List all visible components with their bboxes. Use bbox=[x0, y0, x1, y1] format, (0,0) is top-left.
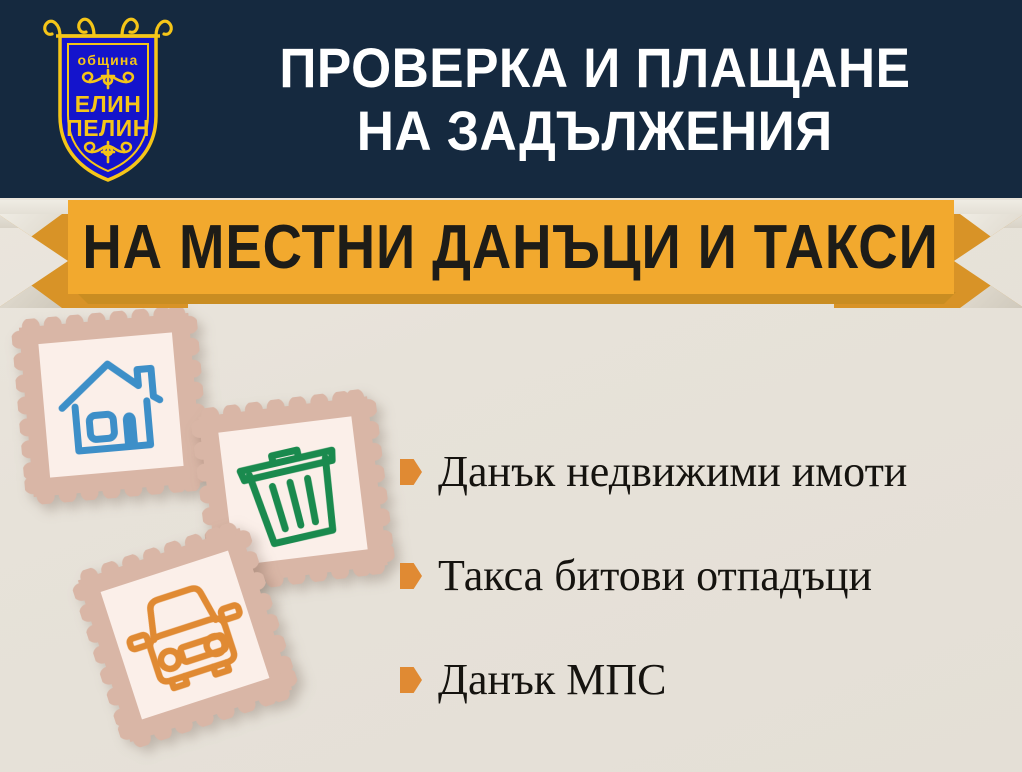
svg-text:ПЕЛИН: ПЕЛИН bbox=[66, 115, 150, 141]
subtitle-ribbon: НА МЕСТНИ ДАНЪЦИ И ТАКСИ bbox=[0, 196, 1022, 308]
page-title-line-1: ПРОВЕРКА И ПЛАЩАНЕ bbox=[280, 37, 911, 100]
svg-text:община: община bbox=[77, 52, 138, 68]
list-item-label: Такса битови отпадъци bbox=[438, 554, 872, 598]
svg-text:ЕЛИН: ЕЛИН bbox=[75, 91, 142, 117]
municipality-crest-logo: община ЕЛИН ПЕЛИН bbox=[38, 10, 178, 190]
arrow-bullet-icon bbox=[400, 459, 422, 485]
list-item-label: Данък МПС bbox=[438, 658, 666, 702]
tax-types-list: Данък недвижими имоти Такса битови отпад… bbox=[400, 420, 1010, 732]
header-title-block: ПРОВЕРКА И ПЛАЩАНЕ НА ЗАДЪЛЖЕНИЯ bbox=[185, 20, 1005, 180]
ribbon-band: НА МЕСТНИ ДАНЪЦИ И ТАКСИ bbox=[68, 200, 954, 294]
list-item[interactable]: Данък МПС bbox=[400, 628, 1010, 732]
page-title-line-2: НА ЗАДЪЛЖЕНИЯ bbox=[357, 100, 833, 163]
stamp-card-house bbox=[10, 304, 212, 506]
list-item[interactable]: Данък недвижими имоти bbox=[400, 420, 1010, 524]
arrow-bullet-icon bbox=[400, 667, 422, 693]
list-item[interactable]: Такса битови отпадъци bbox=[400, 524, 1010, 628]
ribbon-subtitle-text: НА МЕСТНИ ДАНЪЦИ И ТАКСИ bbox=[83, 212, 939, 283]
list-item-label: Данък недвижими имоти bbox=[438, 450, 907, 494]
poster-canvas: община ЕЛИН ПЕЛИН bbox=[0, 0, 1022, 772]
stamp-collage bbox=[0, 300, 420, 770]
arrow-bullet-icon bbox=[400, 563, 422, 589]
